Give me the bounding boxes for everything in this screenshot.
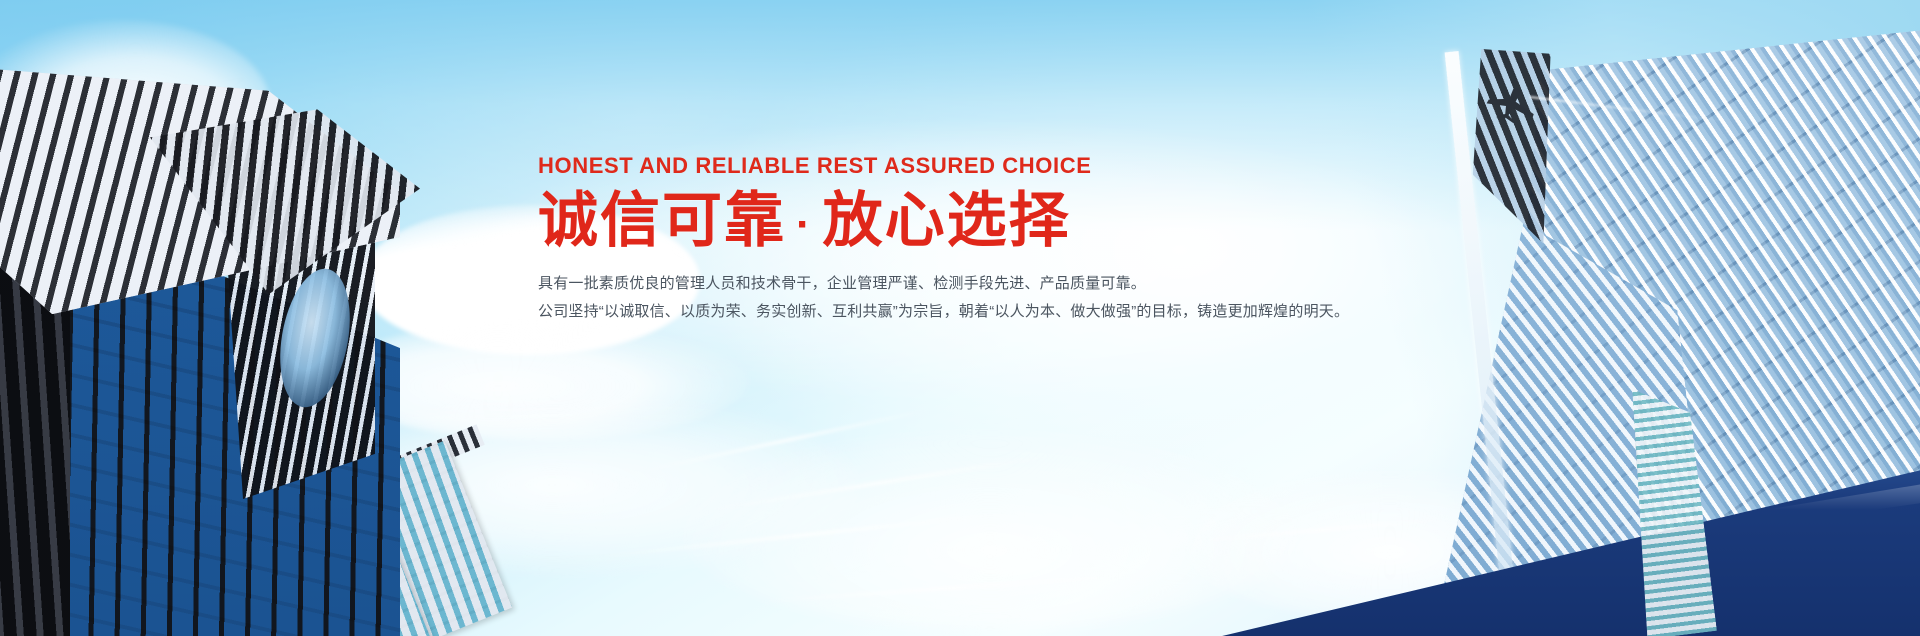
hero-banner: HONEST AND RELIABLE REST ASSURED CHOICE … xyxy=(0,0,1920,636)
headline-part-left: 诚信可靠 xyxy=(538,187,786,254)
headline-part-right: 放心选择 xyxy=(823,187,1071,254)
left-dark-skyscraper xyxy=(0,78,410,636)
banner-body-line-2: 公司坚持“以诚取信、以质为荣、务实创新、互利共赢”为宗旨，朝着“以人为本、做大做… xyxy=(538,298,1378,326)
banner-copy-block: HONEST AND RELIABLE REST ASSURED CHOICE … xyxy=(538,155,1378,325)
airplane-icon xyxy=(1486,84,1542,124)
headline-separator: · xyxy=(786,200,823,249)
banner-headline: 诚信可靠·放心选择 xyxy=(538,189,1378,254)
banner-eyebrow: HONEST AND RELIABLE REST ASSURED CHOICE xyxy=(538,155,1378,177)
banner-body-line-1: 具有一批素质优良的管理人员和技术骨干，企业管理严谨、检测手段先进、产品质量可靠。 xyxy=(538,270,1378,298)
